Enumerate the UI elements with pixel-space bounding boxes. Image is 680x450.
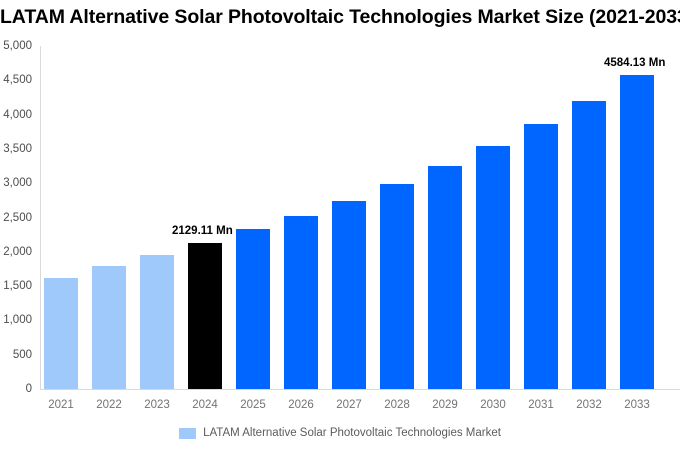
y-axis-tick-label: 2,000 [0, 247, 32, 258]
legend-item-label: LATAM Alternative Solar Photovoltaic Tec… [203, 427, 501, 439]
bar-chart: LATAM Alternative Solar Photovoltaic Tec… [0, 0, 680, 450]
y-axis-tick-label: 5,000 [0, 41, 32, 52]
y-axis-tick-label: 0 [0, 384, 32, 395]
y-axis-tick-label: 2,500 [0, 213, 32, 224]
data-label-2033: 4584.13 Mn [604, 57, 665, 69]
data-label-2024: 2129.11 Mn [172, 225, 233, 237]
bar-2032[interactable] [572, 101, 606, 389]
y-axis-tick-label: 1,000 [0, 315, 32, 326]
bar-2028[interactable] [380, 184, 414, 389]
bars-layer [40, 46, 680, 389]
bar-2022[interactable] [92, 266, 126, 389]
y-axis-tick-label: 1,500 [0, 281, 32, 292]
bar-2029[interactable] [428, 166, 462, 389]
bar-2030[interactable] [476, 146, 510, 389]
y-axis-tick-label: 3,000 [0, 178, 32, 189]
x-axis-line [40, 389, 680, 390]
bar-2033[interactable] [620, 75, 654, 389]
plot-area [40, 46, 680, 389]
bar-2027[interactable] [332, 201, 366, 389]
chart-legend: LATAM Alternative Solar Photovoltaic Tec… [0, 427, 680, 439]
y-axis-tick-label: 4,500 [0, 75, 32, 86]
y-axis-tick-label: 3,500 [0, 144, 32, 155]
bar-2026[interactable] [284, 216, 318, 389]
bar-2023[interactable] [140, 255, 174, 389]
x-axis-tick-label: 2033 [607, 399, 667, 411]
y-axis-tick-label: 4,000 [0, 110, 32, 121]
chart-title: LATAM Alternative Solar Photovoltaic Tec… [0, 6, 680, 28]
y-axis-tick-label: 500 [0, 350, 32, 361]
bar-2031[interactable] [524, 124, 558, 389]
bar-2024[interactable] [188, 243, 222, 389]
legend-swatch-icon [179, 428, 196, 439]
bar-2025[interactable] [236, 229, 270, 389]
bar-2021[interactable] [44, 278, 78, 389]
